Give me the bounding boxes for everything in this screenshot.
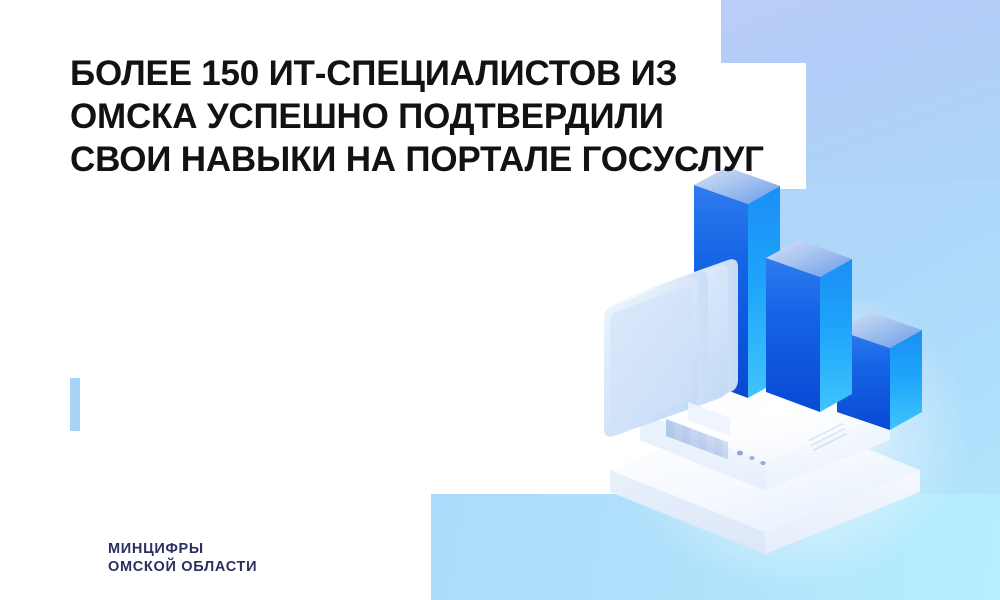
bar-medium bbox=[766, 240, 852, 412]
page-title: БОЛЕЕ 150 ИТ-СПЕЦИАЛИСТОВ ИЗ ОМСКА УСПЕШ… bbox=[70, 52, 770, 181]
vertical-accent-bar bbox=[70, 378, 80, 431]
poster-canvas: БОЛЕЕ 150 ИТ-СПЕЦИАЛИСТОВ ИЗ ОМСКА УСПЕШ… bbox=[0, 0, 1000, 600]
logo-line-ministry: МИНЦИФРЫ bbox=[108, 540, 257, 558]
logo-line-region: ОМСКОЙ ОБЛАСТИ bbox=[108, 558, 257, 576]
illustration-isometric-chart bbox=[570, 140, 1000, 600]
logo: МИНЦИФРЫ ОМСКОЙ ОБЛАСТИ bbox=[108, 540, 257, 576]
